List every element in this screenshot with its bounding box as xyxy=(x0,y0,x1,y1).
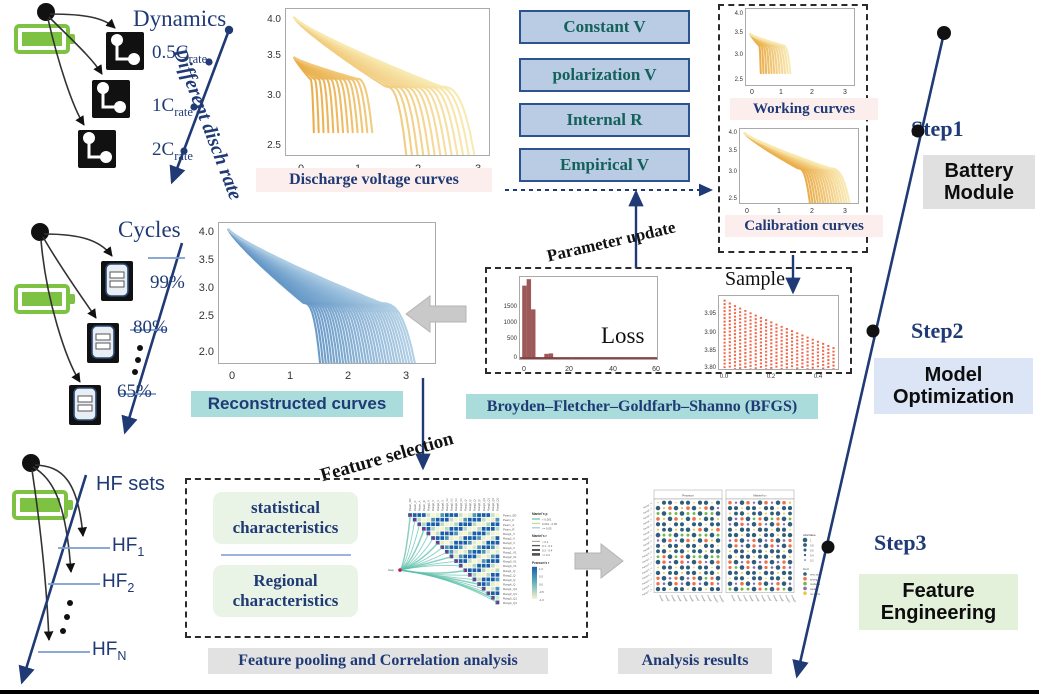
step3-box-label: Feature Engineering xyxy=(881,580,997,624)
battery-icon-full-3 xyxy=(12,488,76,522)
rate-value-3: 2C xyxy=(152,139,174,160)
svg-text:Rang4_Q1: Rang4_Q1 xyxy=(496,497,500,511)
svg-text:< 0.1: < 0.1 xyxy=(542,540,549,544)
hf-label-1: HF1 xyxy=(112,535,144,559)
step1-word: Step1 xyxy=(911,116,964,142)
parameter-update-label: Parameter update xyxy=(545,217,678,266)
svg-text:Corr: Corr xyxy=(803,567,809,571)
svg-text:Pearn_R: Pearn_R xyxy=(422,500,426,511)
svg-text:Rang9: Rang9 xyxy=(706,595,711,602)
svg-text:Rang3_Q1: Rang3_Q1 xyxy=(503,596,517,600)
svg-text:Rang3_V1: Rang3_V1 xyxy=(503,560,517,564)
discharge-voltage-curves-plot xyxy=(285,8,490,156)
svg-text:Rang4_V: Rang4_V xyxy=(440,500,444,511)
svg-text:Rang4_Q: Rang4_Q xyxy=(503,583,516,587)
svg-text:AbsValue: AbsValue xyxy=(803,533,816,537)
svg-text:Pearn_A: Pearn_A xyxy=(417,500,421,511)
step3-word: Step3 xyxy=(874,530,927,556)
svg-text:0.1 - 0.2: 0.1 - 0.2 xyxy=(542,544,553,548)
svg-text:Rang5: Rang5 xyxy=(754,595,759,602)
grey-arrow-right xyxy=(573,540,625,582)
step3-box-feature-engineering: Feature Engineering xyxy=(859,574,1018,630)
hf-sub-3: N xyxy=(117,649,126,663)
step1-box-battery-module: Battery Module xyxy=(923,155,1035,209)
hf-text-3: HF xyxy=(92,639,117,660)
battery-level-icon-1 xyxy=(98,258,136,304)
hf-text-1: HF xyxy=(112,535,137,556)
svg-text:1.0: 1.0 xyxy=(539,567,543,571)
svg-text:Pearn_A: Pearn_A xyxy=(503,523,514,527)
svg-text:Rang1_V1: Rang1_V1 xyxy=(503,550,517,554)
discharge-device-icon-3 xyxy=(74,126,120,172)
svg-text:Rang1_V: Rang1_V xyxy=(503,532,515,536)
rate-value-2: 1C xyxy=(152,95,174,116)
svg-text:Mantel's r: Mantel's r xyxy=(753,494,766,498)
caption-discharge-voltage-curves: Discharge voltage curves xyxy=(256,168,492,192)
loss-label: Loss xyxy=(601,323,644,349)
svg-text:Rang1_V1: Rang1_V1 xyxy=(445,498,449,511)
svg-text:Rang2_Q: Rang2_Q xyxy=(503,573,516,577)
svg-text:Rang9: Rang9 xyxy=(778,595,783,602)
svg-text:Rang7: Rang7 xyxy=(766,595,771,602)
svg-text:Rang1_Q: Rang1_Q xyxy=(503,569,516,573)
svg-text:0.5: 0.5 xyxy=(539,575,543,579)
step2-box-label: Model Optimization xyxy=(893,364,1014,408)
battery-level-icon-2 xyxy=(84,320,122,366)
svg-text:>= 0.05: >= 0.05 xyxy=(542,526,552,530)
tag-regional-characteristics: Regional characteristics xyxy=(213,565,358,617)
svg-text:0.0: 0.0 xyxy=(720,374,729,380)
correlation-matrix-thumbnail: Pearn_SDPearn_KPearn_APearn_RRang1_VRang… xyxy=(382,487,557,633)
svg-text:4.0: 4.0 xyxy=(199,226,214,238)
svg-text:moderate: moderate xyxy=(810,582,820,586)
svg-text:-1.0: -1.0 xyxy=(539,598,544,602)
svg-text:Rang1_V: Rang1_V xyxy=(427,500,431,511)
svg-text:Rang3_Q: Rang3_Q xyxy=(473,499,477,511)
svg-text:Rang3_V: Rang3_V xyxy=(503,541,515,545)
rate-label-3: 2Crate xyxy=(152,139,193,164)
svg-text:0.6: 0.6 xyxy=(810,549,814,553)
svg-text:2.5: 2.5 xyxy=(199,310,214,322)
discharge-device-icon-2 xyxy=(88,76,134,122)
svg-text:3.5: 3.5 xyxy=(199,254,214,266)
svg-text:Rang4_V1: Rang4_V1 xyxy=(503,564,517,568)
svg-text:Rang7: Rang7 xyxy=(694,595,699,602)
svg-text:strong: strong xyxy=(810,577,818,581)
svg-text:Rang2: Rang2 xyxy=(664,595,669,602)
svg-text:Rang6: Rang6 xyxy=(760,595,765,602)
discharge-device-icon-1 xyxy=(102,28,148,74)
svg-text:0: 0 xyxy=(229,370,235,382)
svg-text:Rang1_Q1: Rang1_Q1 xyxy=(482,497,486,511)
svg-text:very strong: very strong xyxy=(810,573,820,577)
svg-text:2.5: 2.5 xyxy=(267,140,281,151)
svg-text:Pearn_R: Pearn_R xyxy=(503,527,514,531)
tag-statistical-label: statistical characteristics xyxy=(233,498,339,537)
svg-text:3.5: 3.5 xyxy=(267,50,281,61)
svg-text:Rang11: Rang11 xyxy=(718,595,724,603)
svg-text:1: 1 xyxy=(287,370,293,382)
step2-word: Step2 xyxy=(911,318,964,344)
svg-text:Rang5: Rang5 xyxy=(682,595,687,602)
caption-feature-pooling: Feature pooling and Correlation analysis xyxy=(208,648,548,674)
hf-sub-1: 1 xyxy=(137,545,144,559)
sample-label: Sample xyxy=(725,268,785,291)
working-curves-plot xyxy=(745,8,855,86)
svg-text:< 0.001: < 0.001 xyxy=(542,518,552,522)
battery-icon-full xyxy=(14,22,78,56)
svg-text:Rang1: Rang1 xyxy=(730,595,735,602)
svg-text:Rang10: Rang10 xyxy=(712,595,718,604)
svg-text:Pearn_K: Pearn_K xyxy=(413,500,417,511)
caption-analysis-results: Analysis results xyxy=(618,648,772,674)
cycle-level-1: 99% xyxy=(150,272,185,294)
different-disch-rate-label: Different disch rate xyxy=(168,45,247,203)
svg-text:Rang4_V1: Rang4_V1 xyxy=(459,498,463,511)
rate-sub-3: rate xyxy=(174,149,193,163)
caption-reconstructed-curves: Reconstructed curves xyxy=(191,391,403,417)
svg-text:0.2: 0.2 xyxy=(810,559,814,563)
svg-text:-0.5: -0.5 xyxy=(539,590,544,594)
svg-text:Rang2_V1: Rang2_V1 xyxy=(503,555,517,559)
svg-text:Rang4_Q1: Rang4_Q1 xyxy=(503,601,517,605)
svg-text:0.2 - 0.4: 0.2 - 0.4 xyxy=(542,549,553,553)
tag-regional-label: Regional characteristics xyxy=(233,571,339,610)
caption-working-curves: Working curves xyxy=(730,98,878,120)
svg-text:Rang2_V1: Rang2_V1 xyxy=(450,498,454,511)
hf-sets-label: HF sets xyxy=(96,473,165,496)
tag-statistical-characteristics: statistical characteristics xyxy=(213,492,358,544)
analysis-results-thumbnail: PearsonRang1Rang2Rang3Rang4Rang5Rang6Ran… xyxy=(625,478,820,643)
sample-plot xyxy=(718,295,839,370)
hf-sub-2: 2 xyxy=(127,581,134,595)
hf-label-3: HFN xyxy=(92,639,126,663)
calibration-curves-plot xyxy=(739,128,859,204)
step1-box-label: Battery Module xyxy=(944,160,1014,204)
svg-text:Rang3_Q1: Rang3_Q1 xyxy=(491,497,495,511)
svg-text:Rang4_V: Rang4_V xyxy=(503,546,515,550)
battery-level-icon-3 xyxy=(66,382,104,428)
svg-text:Cap: Cap xyxy=(388,568,394,572)
svg-text:0.4: 0.4 xyxy=(814,374,823,380)
svg-text:1: 1 xyxy=(810,539,812,543)
svg-text:Mantel's p: Mantel's p xyxy=(532,512,548,516)
svg-text:Rang2_Q1: Rang2_Q1 xyxy=(503,592,517,596)
svg-text:3.0: 3.0 xyxy=(199,282,214,294)
box-empirical-v[interactable]: Empirical V xyxy=(519,148,690,182)
svg-text:Rang3_V: Rang3_V xyxy=(436,500,440,511)
svg-text:0.001 - 0.05: 0.001 - 0.05 xyxy=(542,522,557,526)
hf-text-2: HF xyxy=(102,571,127,592)
step2-box-model-optimization: Model Optimization xyxy=(874,358,1033,414)
svg-text:no correlation: no correlation xyxy=(810,592,820,596)
svg-text:Rang3: Rang3 xyxy=(742,595,747,602)
svg-text:Rang1_Q1: Rang1_Q1 xyxy=(503,587,517,591)
svg-text:Pearn_SD: Pearn_SD xyxy=(503,514,516,518)
svg-text:Rang4: Rang4 xyxy=(748,595,753,602)
svg-text:0.8: 0.8 xyxy=(810,544,814,548)
caption-calibration-curves: Calibration curves xyxy=(725,215,883,237)
svg-text:Rang1: Rang1 xyxy=(658,595,663,602)
dynamics-label: Dynamics xyxy=(133,6,226,32)
svg-text:3: 3 xyxy=(403,370,409,382)
svg-text:>= 0.4: >= 0.4 xyxy=(542,553,550,557)
tag-divider xyxy=(221,552,351,558)
svg-text:2: 2 xyxy=(345,370,351,382)
svg-text:0.4: 0.4 xyxy=(810,554,814,558)
hf-label-2: HF2 xyxy=(102,571,134,595)
svg-text:Rang11: Rang11 xyxy=(790,595,796,603)
svg-text:Rang3_V1: Rang3_V1 xyxy=(454,498,458,511)
svg-text:Rang6: Rang6 xyxy=(688,595,693,602)
svg-text:Rang4_Q: Rang4_Q xyxy=(477,499,481,511)
svg-text:Rang8: Rang8 xyxy=(700,595,705,602)
svg-text:Rang2: Rang2 xyxy=(736,595,741,602)
svg-text:3.0: 3.0 xyxy=(267,90,281,101)
box-internal-r[interactable]: Internal R xyxy=(519,103,690,137)
box-polarization-v[interactable]: polarization V xyxy=(519,58,690,92)
svg-text:Rang2_Q1: Rang2_Q1 xyxy=(486,497,490,511)
svg-text:Rang2_V: Rang2_V xyxy=(503,537,515,541)
cycle-level-2: 80% xyxy=(133,317,168,339)
svg-text:Rang3: Rang3 xyxy=(670,595,675,602)
svg-text:Pearson's r: Pearson's r xyxy=(532,561,550,565)
svg-text:2.0: 2.0 xyxy=(199,346,214,358)
svg-text:4.0: 4.0 xyxy=(267,14,281,25)
svg-text:Rang3_Q: Rang3_Q xyxy=(503,578,516,582)
svg-text:Rang1_Q: Rang1_Q xyxy=(463,499,467,511)
svg-text:Rang2_V: Rang2_V xyxy=(431,500,435,511)
svg-text:weak: weak xyxy=(810,587,817,591)
caption-bfgs: Broyden–Fletcher–Goldfarb–Shanno (BFGS) xyxy=(466,394,818,419)
cycles-label: Cycles xyxy=(118,217,181,243)
box-constant-v[interactable]: Constant V xyxy=(519,10,690,44)
battery-icon-full-2 xyxy=(14,282,78,316)
figure-canvas: Dynamics 0.5Crate 1Crate 2Crate Differen… xyxy=(0,0,1039,694)
svg-text:Pearson: Pearson xyxy=(682,494,694,498)
cycle-level-3: 65% xyxy=(117,381,152,403)
svg-text:Pearn_K: Pearn_K xyxy=(503,518,514,522)
svg-text:0.0: 0.0 xyxy=(539,582,543,586)
svg-text:Pearn_SD: Pearn_SD xyxy=(408,499,412,511)
svg-text:Rang2_Q: Rang2_Q xyxy=(468,499,472,511)
svg-text:Rang10: Rang10 xyxy=(784,595,790,604)
grey-arrow-left xyxy=(404,290,468,338)
svg-text:0.2: 0.2 xyxy=(767,374,776,380)
svg-text:Mantel's r: Mantel's r xyxy=(532,534,548,538)
svg-text:Rang4: Rang4 xyxy=(676,595,681,602)
svg-text:Rang8: Rang8 xyxy=(772,595,777,602)
